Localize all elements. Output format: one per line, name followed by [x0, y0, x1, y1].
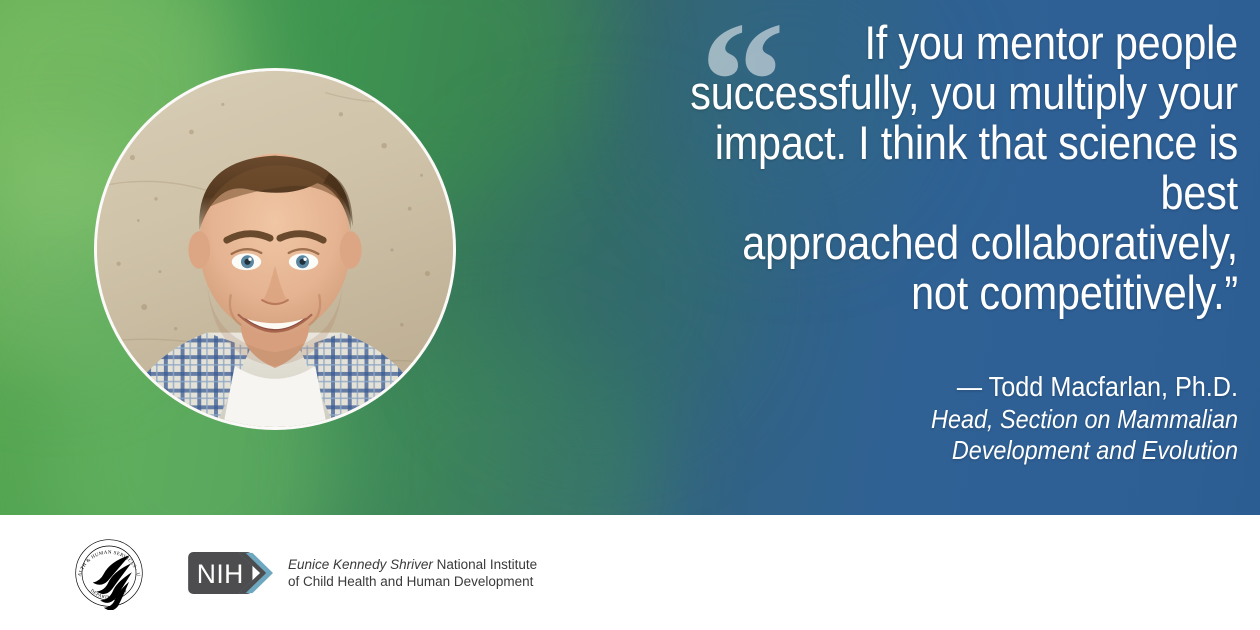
- svg-text:NIH: NIH: [197, 558, 244, 588]
- quote-card: “ If you mentor people successfully, you…: [0, 0, 1260, 630]
- hhs-seal-icon: HEALTH & HUMAN SERVICES · USA DEPARTMENT…: [72, 536, 146, 610]
- portrait-photo: [94, 68, 456, 430]
- nih-wordmark-icon: NIH: [188, 552, 274, 594]
- nih-institute-name: Eunice Kennedy Shriver National Institut…: [288, 556, 537, 590]
- nih-name-line2: of Child Health and Human Development: [288, 574, 533, 589]
- portrait-illustration: [97, 71, 453, 427]
- footer-logo-bar: HEALTH & HUMAN SERVICES · USA DEPARTMENT…: [0, 515, 1260, 630]
- nih-name-italic: Eunice Kennedy Shriver: [288, 557, 433, 572]
- nih-logo-lockup: NIH Eunice Kennedy Shriver National Inst…: [188, 552, 537, 594]
- nih-name-line1-rest: National Institute: [433, 557, 537, 572]
- attribution-name: — Todd Macfarlan, Ph.D.: [617, 370, 1238, 404]
- quote-block: “ If you mentor people successfully, you…: [548, 18, 1238, 318]
- quote-text: If you mentor people successfully, you m…: [631, 18, 1238, 318]
- attribution: — Todd Macfarlan, Ph.D. Head, Section on…: [548, 370, 1238, 466]
- attribution-title: Head, Section on Mammalian Development a…: [617, 404, 1238, 466]
